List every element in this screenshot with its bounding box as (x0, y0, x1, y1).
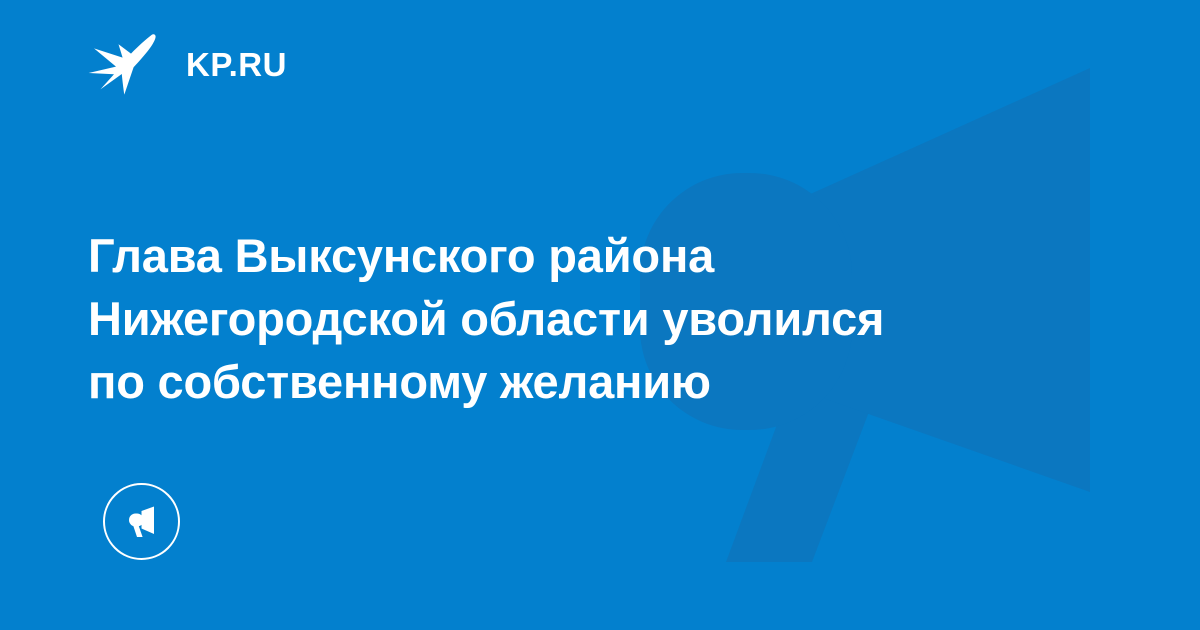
brand-logo[interactable]: KP.RU (88, 34, 287, 94)
headline-line: Нижегородской области уволился (88, 287, 1098, 350)
megaphone-badge[interactable] (103, 483, 180, 560)
headline: Глава Выксунского района Нижегородской о… (88, 224, 1098, 413)
headline-line: Глава Выксунского района (88, 224, 1098, 287)
brand-name: KP.RU (186, 48, 287, 81)
megaphone-icon (122, 502, 162, 542)
headline-line: по собственному желанию (88, 350, 1098, 413)
swallow-bird-icon (88, 33, 162, 95)
news-share-card: KP.RU Глава Выксунского района Нижегород… (0, 0, 1200, 630)
